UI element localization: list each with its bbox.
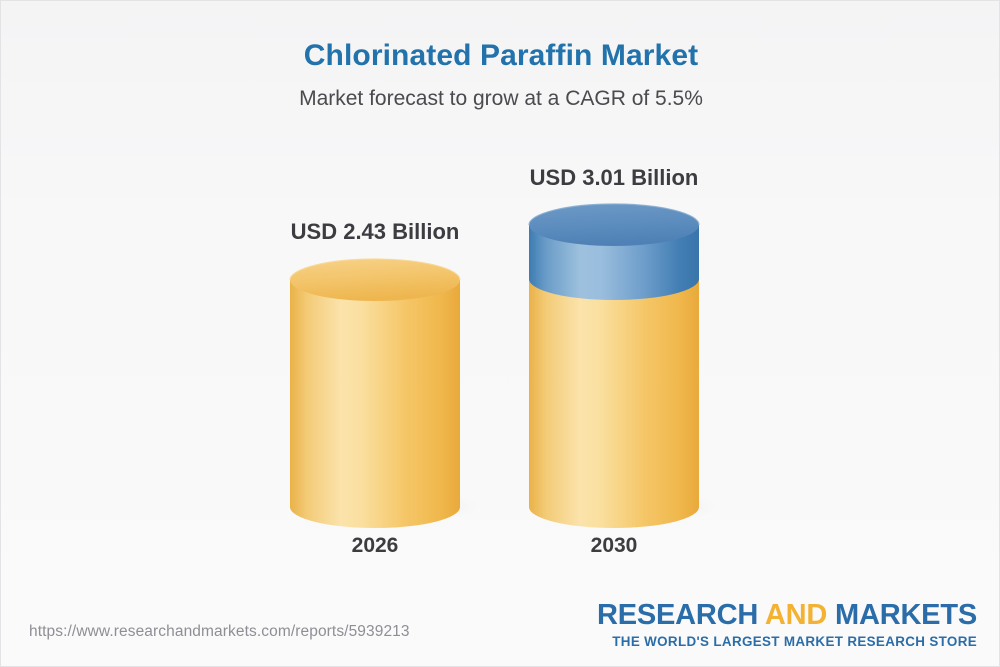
category-label-2030: 2030 xyxy=(514,534,714,558)
logo-word-research: RESEARCH xyxy=(597,599,765,631)
value-label-2030: USD 3.01 Billion xyxy=(514,165,714,191)
logo-tagline: THE WORLD'S LARGEST MARKET RESEARCH STOR… xyxy=(597,635,977,648)
chart-plot-area: USD 2.43 Billion USD 3.01 Billion xyxy=(1,1,1000,601)
logo-wordmark: RESEARCH AND MARKETS xyxy=(597,601,977,630)
logo-word-markets: MARKETS xyxy=(835,599,977,631)
category-label-2026: 2026 xyxy=(275,534,475,558)
chart-canvas: Chlorinated Paraffin Market Market forec… xyxy=(0,0,1000,667)
report-url-link[interactable]: https://www.researchandmarkets.com/repor… xyxy=(29,623,410,641)
research-and-markets-logo[interactable]: RESEARCH AND MARKETS THE WORLD'S LARGEST… xyxy=(597,601,977,648)
value-label-2026: USD 2.43 Billion xyxy=(275,219,475,245)
cylinder-2030 xyxy=(520,197,720,537)
cylinder-2026 xyxy=(281,251,481,536)
logo-word-and: AND xyxy=(765,599,835,631)
